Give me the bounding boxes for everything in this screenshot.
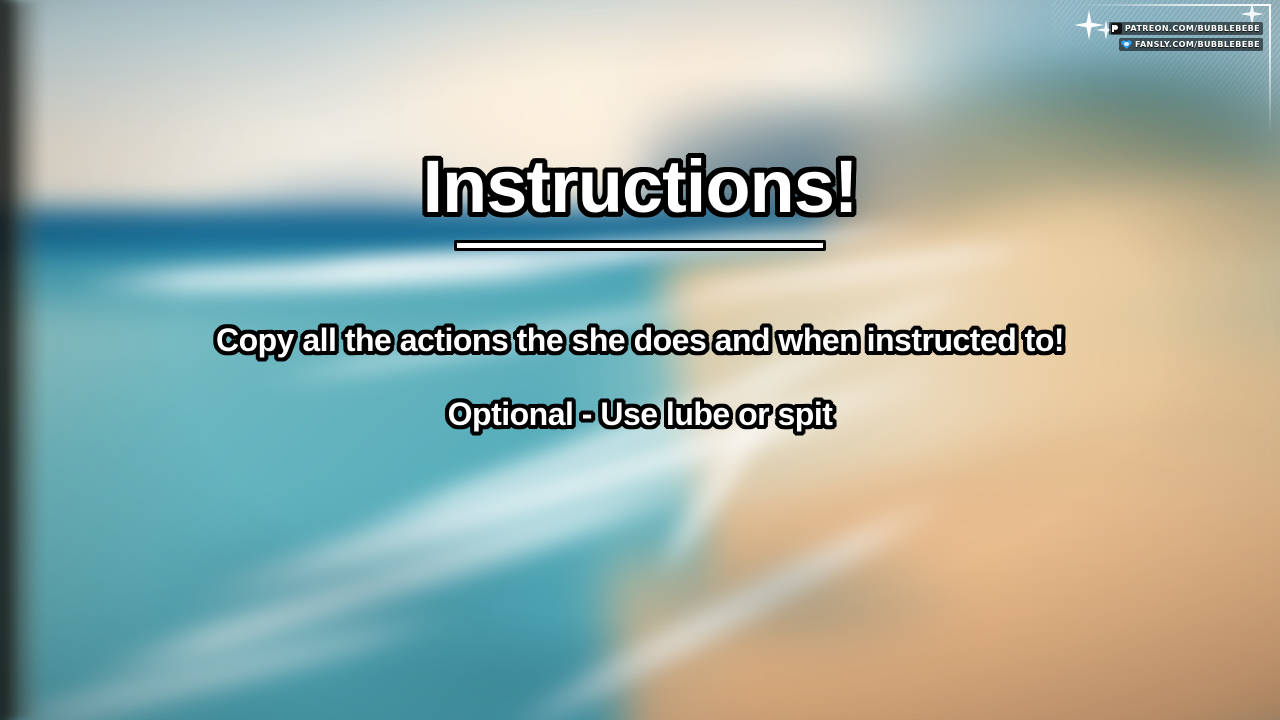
watermark-links: PATREON.COM/BUBBLEBEBE FANSLY.COM/BUBBLE… <box>1109 22 1263 51</box>
instruction-line-1: Copy all the actions the she does and wh… <box>0 322 1280 359</box>
fansly-link-row[interactable]: FANSLY.COM/BUBBLEBEBE <box>1119 38 1263 51</box>
title-underline-rule <box>454 240 826 251</box>
watermark-panel: PATREON.COM/BUBBLEBEBE FANSLY.COM/BUBBLE… <box>1052 0 1280 138</box>
instruction-line-2: Optional - Use lube or spit <box>0 396 1280 433</box>
patreon-link-label: PATREON.COM/BUBBLEBEBE <box>1125 24 1260 33</box>
fansly-icon <box>1121 39 1132 50</box>
watermark-top-border <box>1075 4 1271 6</box>
slide-canvas: Instructions! Copy all the actions the s… <box>0 0 1280 720</box>
title-block: Instructions! <box>0 150 1280 251</box>
patreon-link-row[interactable]: PATREON.COM/BUBBLEBEBE <box>1109 22 1263 35</box>
fansly-link-label: FANSLY.COM/BUBBLEBEBE <box>1135 40 1260 49</box>
patreon-icon <box>1111 23 1122 34</box>
watermark-right-border <box>1269 4 1271 132</box>
page-title: Instructions! <box>422 150 857 224</box>
diagonal-stripe-texture <box>1052 0 1280 138</box>
